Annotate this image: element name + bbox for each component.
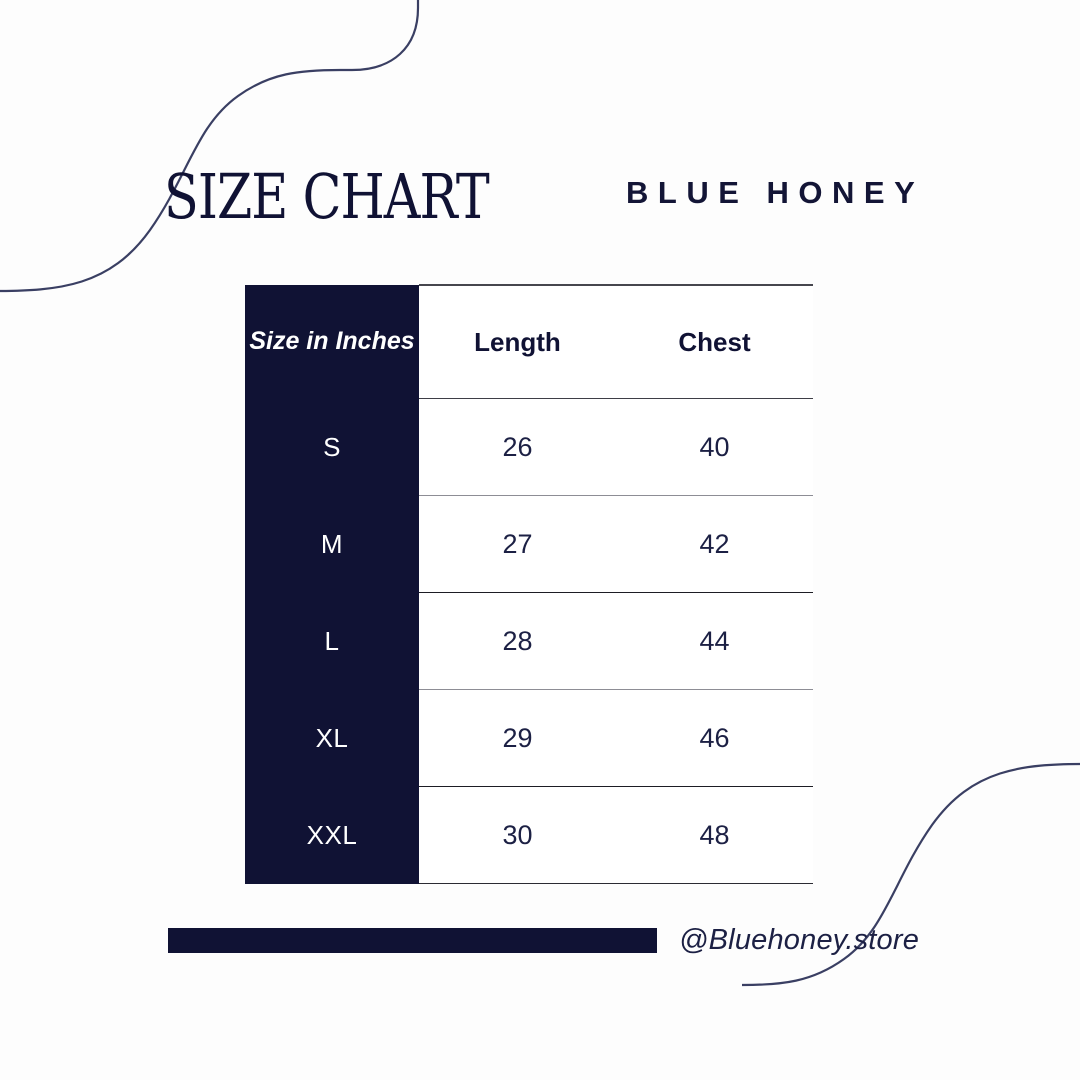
column-header-chest: Chest bbox=[616, 285, 813, 399]
table-row: M 27 42 bbox=[245, 496, 813, 593]
page-title: SIZE CHART bbox=[164, 163, 489, 232]
cell-size: M bbox=[245, 496, 419, 593]
size-chart-table: Size in Inches Length Chest S 26 40 M 27… bbox=[245, 284, 813, 884]
footer-accent-bar bbox=[168, 928, 657, 953]
cell-length: 27 bbox=[419, 496, 616, 593]
cell-length: 30 bbox=[419, 787, 616, 884]
column-header-length: Length bbox=[419, 285, 616, 399]
cell-chest: 40 bbox=[616, 399, 813, 496]
cell-size: XL bbox=[245, 690, 419, 787]
cell-chest: 42 bbox=[616, 496, 813, 593]
cell-length: 28 bbox=[419, 593, 616, 690]
cell-length: 26 bbox=[419, 399, 616, 496]
cell-chest: 48 bbox=[616, 787, 813, 884]
cell-size: L bbox=[245, 593, 419, 690]
table-row: XXL 30 48 bbox=[245, 787, 813, 884]
table-row: L 28 44 bbox=[245, 593, 813, 690]
column-header-size: Size in Inches bbox=[245, 285, 419, 399]
page-header: SIZE CHART BLUE HONEY bbox=[0, 163, 1080, 229]
cell-length: 29 bbox=[419, 690, 616, 787]
social-handle: @Bluehoney.store bbox=[679, 922, 919, 958]
table-row: XL 29 46 bbox=[245, 690, 813, 787]
cell-chest: 46 bbox=[616, 690, 813, 787]
cell-chest: 44 bbox=[616, 593, 813, 690]
top-left-curve bbox=[0, 0, 418, 291]
cell-size: S bbox=[245, 399, 419, 496]
brand-logo-text: BLUE HONEY bbox=[626, 173, 924, 213]
cell-size: XXL bbox=[245, 787, 419, 884]
table-header-row: Size in Inches Length Chest bbox=[245, 285, 813, 399]
table-row: S 26 40 bbox=[245, 399, 813, 496]
